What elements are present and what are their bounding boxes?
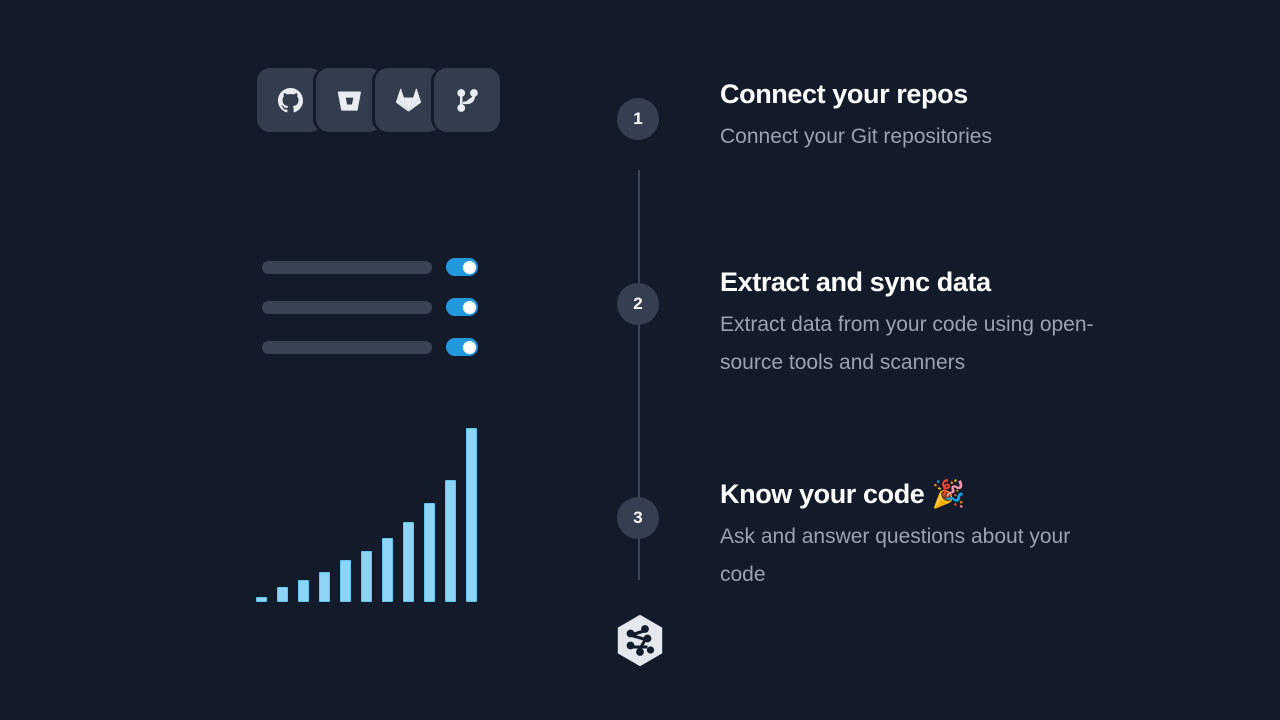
step-text: Know your code 🎉 Ask and answer question… [720,479,1120,594]
chart-bar [403,522,414,602]
step-title: Extract and sync data [720,267,1120,298]
chart-bar [298,580,309,602]
step-description: Ask and answer questions about your code [720,518,1112,594]
hexagon-network-logo [614,613,666,671]
provider-tile-github[interactable] [257,68,323,132]
skeleton-label [262,341,432,354]
skeleton-label [262,301,432,314]
git-branch-icon [455,88,480,113]
toggle-knob [463,301,476,314]
steps-timeline: 1 Connect your repos Connect your Git re… [617,60,1117,630]
onboarding-illustration: 1 Connect your repos Connect your Git re… [0,0,1280,720]
step-number-badge: 2 [617,283,659,325]
github-icon [278,88,303,113]
bitbucket-icon [337,88,362,113]
toggle-knob [463,341,476,354]
chart-bar [466,428,477,602]
provider-tile-git[interactable] [434,68,500,132]
chart-bar [361,551,372,602]
step-description: Connect your Git repositories [720,118,1112,156]
toggle-row [262,258,478,276]
toggle-row [262,338,478,356]
chart-bar [319,572,330,602]
growth-bar-chart [256,421,480,602]
step-description: Extract data from your code using open-s… [720,306,1112,382]
provider-tiles [257,68,493,132]
chart-bar [277,587,288,602]
chart-bar [424,503,435,602]
toggle-row [262,298,478,316]
toggle-switch-2[interactable] [446,298,478,316]
chart-bar [445,480,456,602]
toggle-switch-1[interactable] [446,258,478,276]
gitlab-icon [396,88,421,113]
provider-tile-bitbucket[interactable] [316,68,382,132]
chart-bar [382,538,393,602]
step-title: Know your code 🎉 [720,479,1120,510]
chart-bar [256,597,267,602]
toggle-switch-3[interactable] [446,338,478,356]
skeleton-label [262,261,432,274]
step-text: Extract and sync data Extract data from … [720,267,1120,382]
step-title: Connect your repos [720,79,1120,110]
step-number-badge: 1 [617,98,659,140]
chart-bars [256,421,480,602]
step-number-badge: 3 [617,497,659,539]
chart-bar [340,560,351,602]
toggle-knob [463,261,476,274]
provider-tile-gitlab[interactable] [375,68,441,132]
step-text: Connect your repos Connect your Git repo… [720,79,1120,156]
settings-toggle-list [262,258,478,378]
